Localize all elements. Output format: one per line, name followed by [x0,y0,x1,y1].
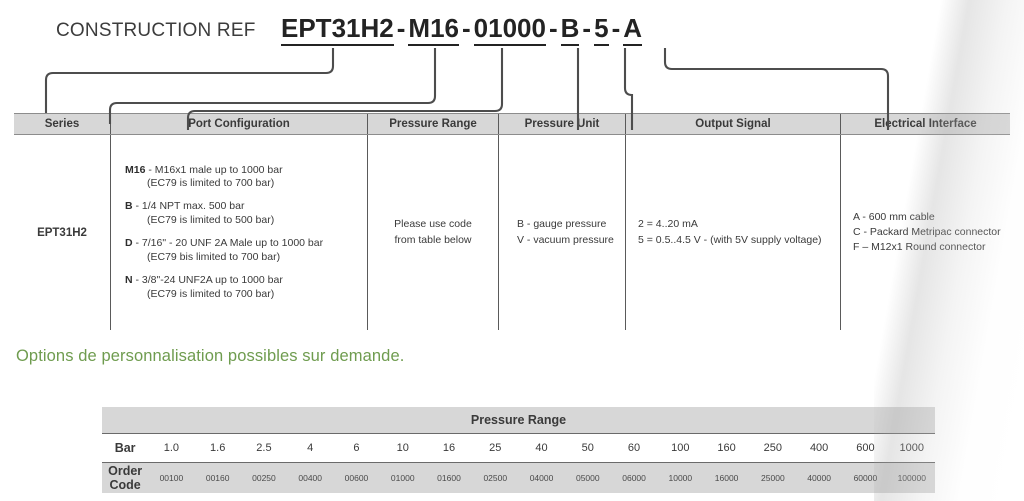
order-code-value: 00400 [287,463,333,494]
port-code-d: D [125,237,133,249]
port-note-n: (EC79 is limited to 700 bar) [125,288,323,302]
port-note-d: (EC79 bis limited to 700 bar) [125,251,323,265]
order-code-value: 25000 [750,463,796,494]
bar-value: 160 [703,434,749,463]
order-code-value: 01600 [426,463,472,494]
order-code-value: 00250 [241,463,287,494]
connector-output-signal [625,48,632,130]
order-code-value: 40000 [796,463,842,494]
pressure-unit-option-b: B - gauge pressure [517,217,614,232]
pressure-range-line-2: from table below [394,233,472,248]
row-label-order-code: Order Code [102,463,148,494]
cell-output-signal: 2 = 4..20 mA 5 = 0.5..4.5 V - (with 5V s… [626,135,841,330]
bar-value: 2.5 [241,434,287,463]
series-value: EPT31H2 [37,227,87,239]
row-label-bar: Bar [102,434,148,463]
cell-series: EPT31H2 [14,135,111,330]
bar-value: 600 [842,434,888,463]
order-code-value: 16000 [703,463,749,494]
port-code-b: B [125,200,133,212]
order-code-value: 00600 [333,463,379,494]
port-note-m16: (EC79 is limited to 700 bar) [125,177,323,191]
order-code-value: 01000 [380,463,426,494]
cell-pressure-range: Please use code from table below [368,135,499,330]
port-note-b: (EC79 is limited to 500 bar) [125,214,323,228]
port-option-n: N - 3/8"-24 UNF2A up to 1000 bar (EC79 i… [125,274,323,302]
port-desc-n: - 3/8"-24 UNF2A up to 1000 bar [136,274,283,286]
construction-ref-table: Series Port Configuration Pressure Range… [14,113,1010,330]
order-code-value: 05000 [565,463,611,494]
output-signal-option-5: 5 = 0.5..4.5 V - (with 5V supply voltage… [638,233,822,248]
port-option-b: B - 1/4 NPT max. 500 bar (EC79 is limite… [125,200,323,228]
output-signal-option-2: 2 = 4..20 mA [638,217,822,232]
customisation-note: Options de personnalisation possibles su… [16,347,404,366]
bar-value: 400 [796,434,842,463]
table-body-row: EPT31H2 M16 - M16x1 male up to 1000 bar … [14,135,1010,330]
order-code-value: 100000 [889,463,935,494]
connector-electrical-interface [665,48,888,130]
pressure-range-table: Pressure Range Bar 1.0 1.6 2.5 4 6 10 16… [102,407,935,493]
pressure-range-line-1: Please use code [394,217,472,232]
electrical-option-c: C - Packard Metripac connector [853,225,1001,240]
datasheet-page: CONSTRUCTION REF EPT31H2-M16-01000-B-5-A… [0,0,1024,501]
bar-value: 16 [426,434,472,463]
bar-value: 1.6 [195,434,241,463]
cell-pressure-unit: B - gauge pressure V - vacuum pressure [499,135,626,330]
port-code-n: N [125,274,133,286]
port-desc-d: - 7/16" - 20 UNF 2A Male up to 1000 bar [136,237,324,249]
cell-port-configuration: M16 - M16x1 male up to 1000 bar (EC79 is… [111,135,368,330]
electrical-option-a: A - 600 mm cable [853,210,1001,225]
bar-value: 10 [380,434,426,463]
bar-value: 4 [287,434,333,463]
bar-value: 50 [565,434,611,463]
bar-value: 25 [472,434,518,463]
connector-port [110,48,435,124]
order-code-value: 60000 [842,463,888,494]
bar-value: 40 [518,434,564,463]
bar-value: 1.0 [148,434,194,463]
order-code-value: 04000 [518,463,564,494]
electrical-option-f: F – M12x1 Round connector [853,240,1001,255]
pressure-table-title: Pressure Range [102,407,935,434]
order-code-value: 00100 [148,463,194,494]
bar-value: 250 [750,434,796,463]
order-code-value: 06000 [611,463,657,494]
pressure-table-title-row: Pressure Range [102,407,935,434]
connector-pressure-range [188,48,502,130]
bar-value: 1000 [889,434,935,463]
pressure-table-bar-row: Bar 1.0 1.6 2.5 4 6 10 16 25 40 50 60 10… [102,434,935,463]
bar-value: 6 [333,434,379,463]
port-option-d: D - 7/16" - 20 UNF 2A Male up to 1000 ba… [125,237,323,265]
bar-value: 100 [657,434,703,463]
pressure-table-order-code-row: Order Code 00100 00160 00250 00400 00600… [102,463,935,494]
order-code-value: 02500 [472,463,518,494]
bar-value: 60 [611,434,657,463]
port-desc-b: - 1/4 NPT max. 500 bar [136,200,245,212]
port-desc-m16: - M16x1 male up to 1000 bar [148,164,282,176]
connector-lines [0,0,1024,130]
cell-electrical-interface: A - 600 mm cable C - Packard Metripac co… [841,135,1010,330]
pressure-unit-option-v: V - vacuum pressure [517,233,614,248]
port-code-m16: M16 [125,164,145,176]
order-code-value: 00160 [195,463,241,494]
order-code-value: 10000 [657,463,703,494]
port-option-m16: M16 - M16x1 male up to 1000 bar (EC79 is… [125,164,323,192]
